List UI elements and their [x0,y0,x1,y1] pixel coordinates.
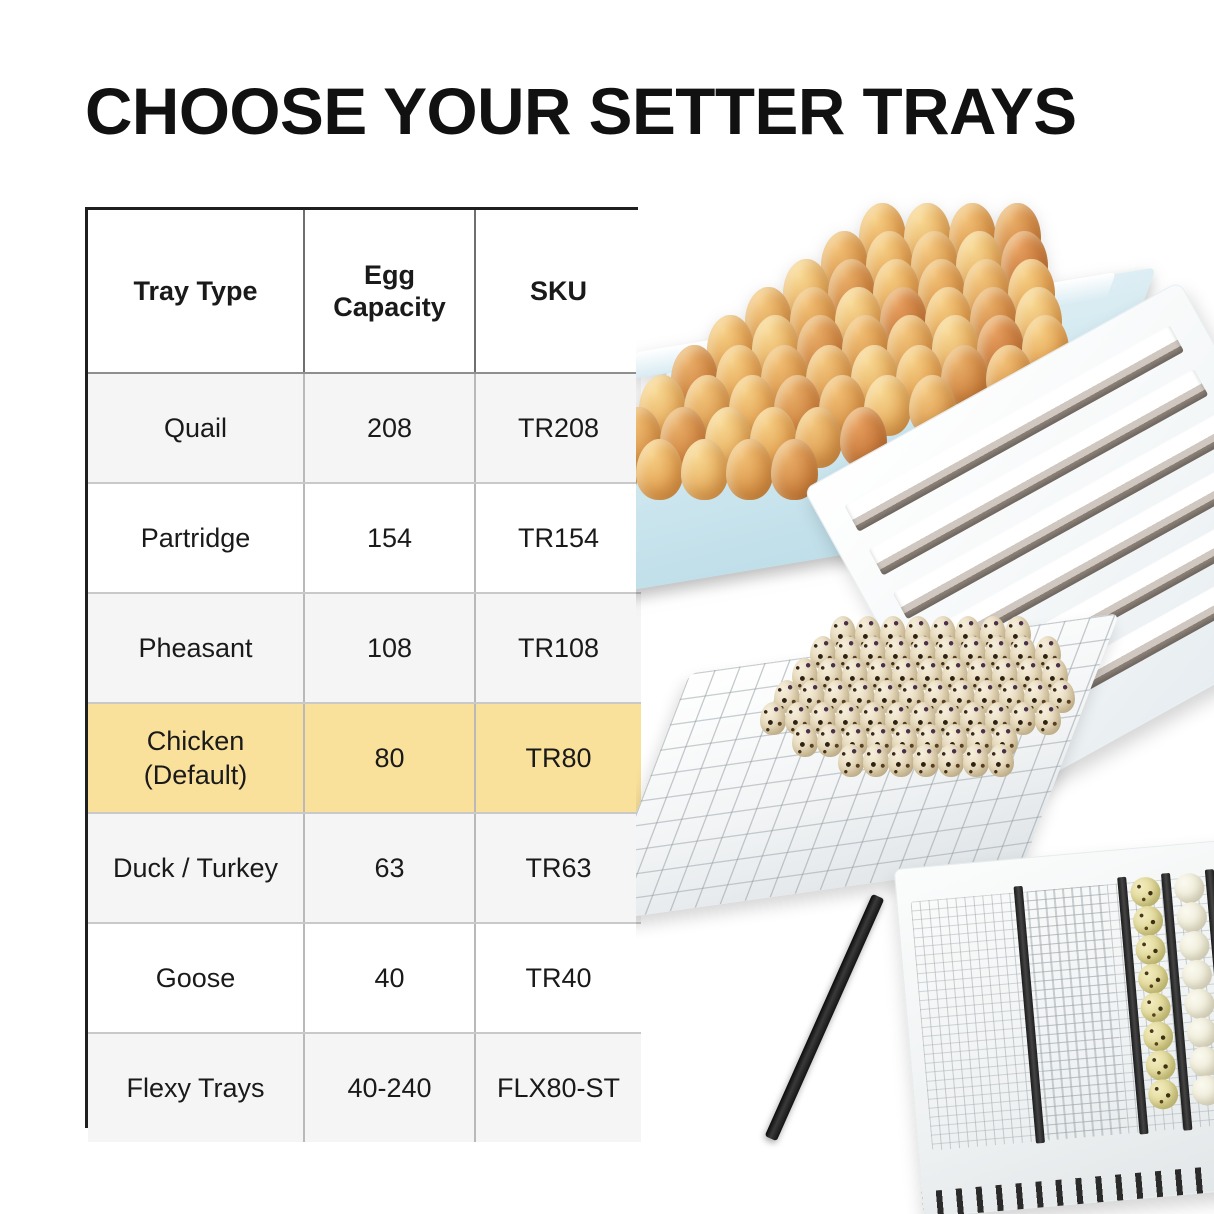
tray-type-sublabel: (Default) [92,758,299,792]
table-row: Flexy Trays 40-240 FLX80-ST [88,1033,641,1142]
cell-tray-type: Duck / Turkey [88,813,304,923]
table-row: Goose 40 TR40 [88,923,641,1033]
tray-type-label: Partridge [92,521,299,555]
cell-tray-type: Partridge [88,483,304,593]
tray-type-label: Chicken [92,724,299,758]
mesh-tray-photo [894,832,1214,1214]
table-row: Duck / Turkey 63 TR63 [88,813,641,923]
cell-sku: TR80 [475,703,641,813]
cell-tray-type: Quail [88,373,304,483]
table-row: Pheasant 108 TR108 [88,593,641,703]
cell-sku: FLX80-ST [475,1033,641,1142]
cell-tray-type: Pheasant [88,593,304,703]
cell-tray-type: Goose [88,923,304,1033]
product-photo-collage [636,150,1214,1214]
table-row-highlighted-default: Chicken (Default) 80 TR80 [88,703,641,813]
column-header-sku-label: SKU [530,276,587,306]
cell-sku: TR208 [475,373,641,483]
table-header-row: Tray Type Egg Capacity SKU [88,210,641,373]
cell-sku: TR154 [475,483,641,593]
page-title: CHOOSE YOUR SETTER TRAYS [85,76,1150,146]
tray-type-label: Goose [92,961,299,995]
cell-tray-type: Chicken (Default) [88,703,304,813]
tray-type-label: Quail [92,411,299,445]
column-header-egg-capacity: Egg Capacity [304,210,475,373]
cell-egg-capacity: 40 [304,923,475,1033]
cell-egg-capacity: 63 [304,813,475,923]
table-body: Quail 208 TR208 Partridge 154 TR154 Phea… [88,373,641,1142]
cell-egg-capacity: 108 [304,593,475,703]
cell-egg-capacity: 154 [304,483,475,593]
tray-type-label: Duck / Turkey [92,851,299,885]
cell-egg-capacity: 80 [304,703,475,813]
page-root: CHOOSE YOUR SETTER TRAYS Tray Type Egg C… [0,0,1214,1214]
egg-row [636,439,816,501]
column-header-sku: SKU [475,210,641,373]
tray-type-label: Pheasant [92,631,299,665]
table-row: Quail 208 TR208 [88,373,641,483]
tray-type-label: Flexy Trays [92,1071,299,1105]
cell-egg-capacity: 40-240 [304,1033,475,1142]
setter-tray-spec-table: Tray Type Egg Capacity SKU Quail [85,207,638,1128]
column-header-egg-capacity-line2: Capacity [309,291,470,323]
cell-sku: TR108 [475,593,641,703]
cell-sku: TR40 [475,923,641,1033]
column-header-tray-type: Tray Type [88,210,304,373]
cell-egg-capacity: 208 [304,373,475,483]
quail-egg-row [838,744,1013,776]
cell-tray-type: Flexy Trays [88,1033,304,1142]
column-header-tray-type-label: Tray Type [133,276,257,306]
table-row: Partridge 154 TR154 [88,483,641,593]
cell-sku: TR63 [475,813,641,923]
column-header-egg-capacity-line1: Egg [309,259,470,291]
